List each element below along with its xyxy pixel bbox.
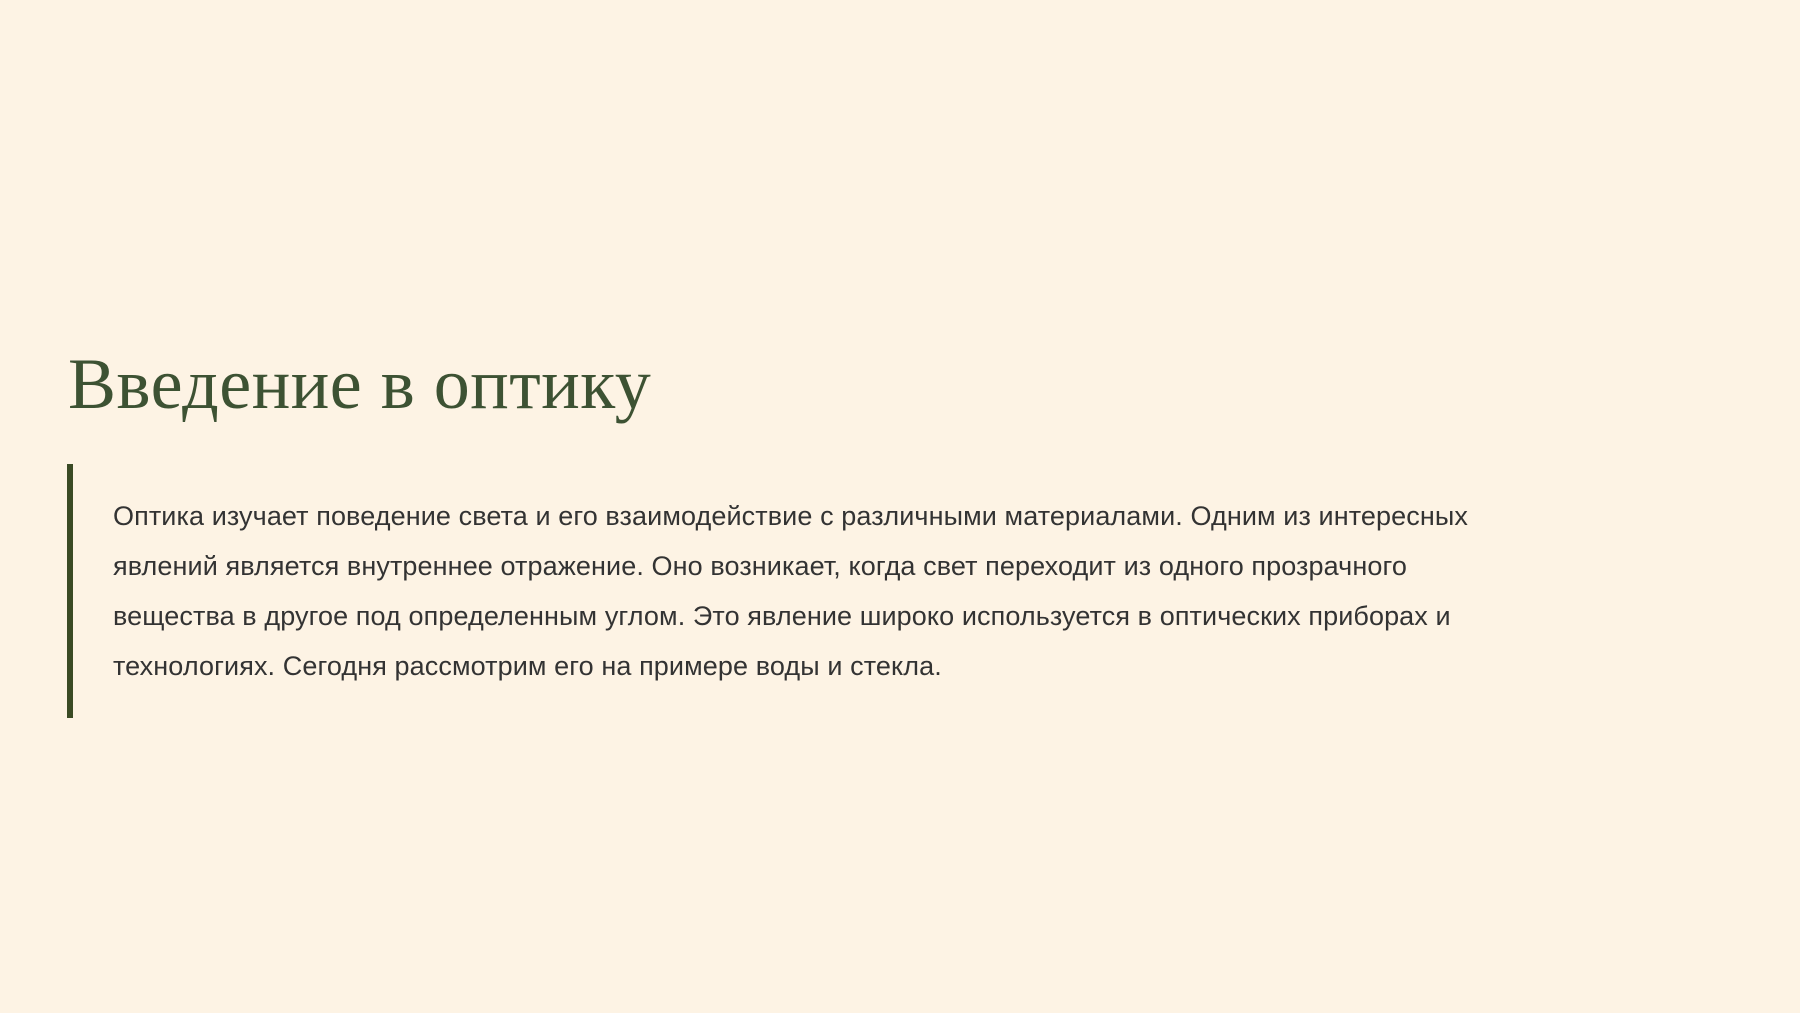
body-paragraph: Оптика изучает поведение света и его вза… <box>73 491 1503 691</box>
slide-canvas: Введение в оптику Оптика изучает поведен… <box>0 0 1800 1013</box>
body-callout-block: Оптика изучает поведение света и его вза… <box>67 464 1667 718</box>
page-title: Введение в оптику <box>68 348 651 420</box>
